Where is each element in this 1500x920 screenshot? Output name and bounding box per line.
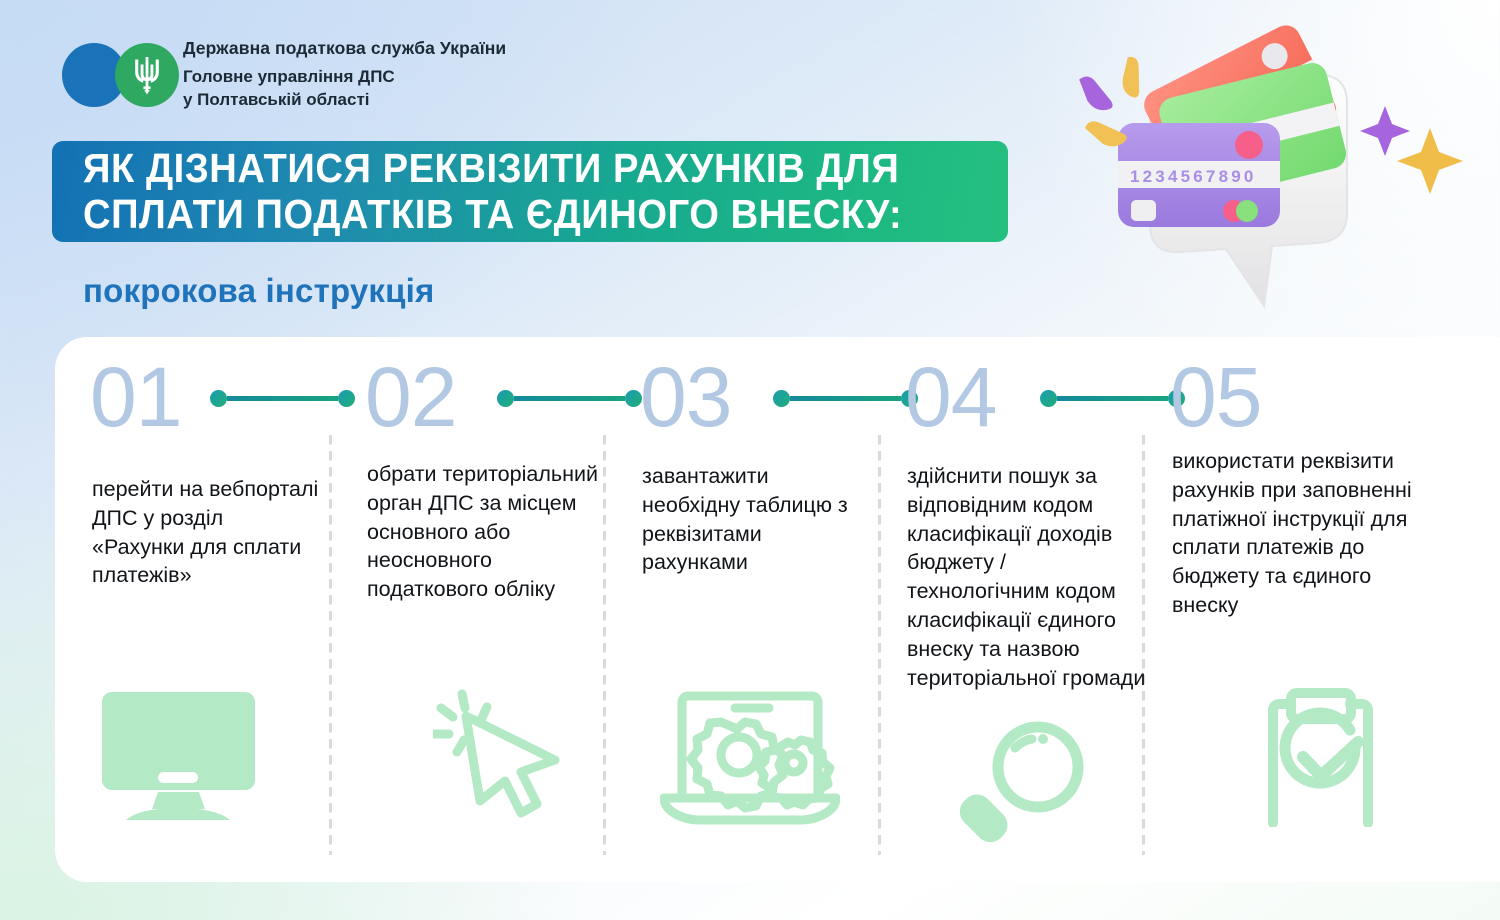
title-banner: ЯК ДІЗНАТИСЯ РЕКВІЗИТИ РАХУНКІВ ДЛЯ СПЛА… <box>52 141 1008 242</box>
step-item-02: 02 обрати територіальний орган ДПС за мі… <box>365 337 605 882</box>
step-description: використати реквізити рахунків при запов… <box>1172 447 1420 620</box>
step-number: 02 <box>365 355 456 439</box>
logo-green-circle <box>115 43 179 107</box>
org-name-block: Державна податкова служба України Головн… <box>183 38 506 111</box>
subtitle: покрокова інструкція <box>83 272 434 310</box>
step-item-01: 01 перейти на вебпорталі ДПС у розділ «Р… <box>90 337 325 882</box>
ukraine-trident-icon <box>132 54 162 96</box>
step-item-04: 04 здійснити пошук за відповідним кодом … <box>905 337 1150 882</box>
click-cursor-icon <box>433 682 583 827</box>
purple-card: 1234567890 <box>1118 123 1280 227</box>
step-divider <box>329 435 332 855</box>
step-description: завантажити необхідну таблицю з реквізит… <box>642 462 867 577</box>
org-line-1: Державна податкова служба України <box>183 38 506 59</box>
step-description: здійснити пошук за відповідним кодом кла… <box>907 462 1149 692</box>
title-line-1: ЯК ДІЗНАТИСЯ РЕКВІЗИТИ РАХУНКІВ ДЛЯ <box>83 146 943 192</box>
org-line-3: у Полтавській області <box>183 89 506 112</box>
credit-cards-speech-bubble-illustration: 1234567890 <box>1055 18 1485 318</box>
step-item-03: 03 завантажити необхідну таблицю з рекві… <box>640 337 865 882</box>
step-number: 01 <box>90 355 181 439</box>
card-number: 1234567890 <box>1130 167 1257 186</box>
steps-container: 01 перейти на вебпорталі ДПС у розділ «Р… <box>55 337 1500 882</box>
step-number: 05 <box>1170 355 1261 439</box>
laptop-gears-icon <box>660 690 840 830</box>
desktop-monitor-icon <box>96 692 261 827</box>
title-line-2: СПЛАТИ ПОДАТКІВ ТА ЄДИНОГО ВНЕСКУ: <box>83 192 943 238</box>
step-divider <box>878 435 881 855</box>
magnifier-icon <box>953 720 1093 855</box>
clipboard-check-icon <box>1255 687 1395 832</box>
step-number: 04 <box>905 355 996 439</box>
infographic-root: Державна податкова служба України Головн… <box>0 0 1500 920</box>
step-item-05: 05 використати реквізити рахунків при за… <box>1170 337 1420 882</box>
dps-logo <box>62 39 177 111</box>
org-line-2: Головне управління ДПС <box>183 66 506 89</box>
connector-dot <box>338 390 355 407</box>
step-description: обрати територіальний орган ДПС за місце… <box>367 460 607 604</box>
step-number: 03 <box>640 355 731 439</box>
step-description: перейти на вебпорталі ДПС у розділ «Раху… <box>92 475 320 590</box>
org-header: Державна податкова служба України Головн… <box>62 38 506 111</box>
